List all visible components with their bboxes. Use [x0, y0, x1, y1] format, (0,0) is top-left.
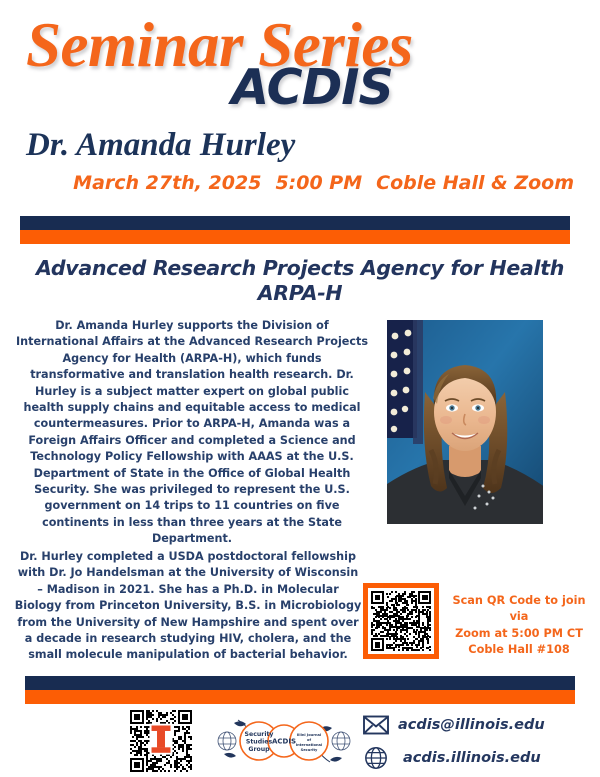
seminar-poster: Seminar Series ACDIS Dr. Amanda Hurley M… [0, 0, 600, 777]
event-location: Coble Hall & Zoom [376, 174, 574, 193]
envelope-icon [362, 711, 389, 738]
website-url[interactable]: acdis.illinois.edu [403, 750, 541, 766]
bio-paragraph-2: Dr. Hurley completed a USDA postdoctoral… [14, 549, 362, 664]
portrait-image [387, 320, 543, 524]
poster-footer: Security Studies Group ACDIS Illini Jour… [0, 706, 600, 777]
logo-label-ijis-line3: International [296, 743, 322, 747]
logo-label-ssg-line1: Security [245, 731, 274, 738]
logo-label-ijis-line1: Illini Journal [297, 733, 321, 737]
talk-title: Advanced Research Projects Agency for He… [22, 256, 578, 305]
event-details: March 27th, 20255:00 PMCoble Hall & Zoom [0, 174, 574, 193]
footer-orange-bar [25, 690, 575, 704]
zoom-qr-code-inner [368, 588, 434, 654]
acdis-wordmark: ACDIS [0, 63, 600, 112]
contact-email-row[interactable]: acdis@illinois.edu [362, 708, 598, 741]
globe-icon [362, 744, 389, 771]
divider-navy-bar [20, 216, 570, 230]
talk-title-line2: ARPA-H [22, 281, 578, 306]
zoom-qr-code[interactable] [363, 583, 439, 659]
contact-website-row[interactable]: acdis.illinois.edu [362, 741, 598, 774]
logo-label-ssg-line2: Studies [246, 739, 273, 746]
logo-label-ssg-line3: Group [248, 746, 270, 753]
qr-caption: Scan QR Code to join via Zoom at 5:00 PM… [446, 593, 592, 659]
logo-label-acdis: ACDIS [272, 738, 296, 746]
zoom-qr-code-image [371, 591, 431, 651]
event-time: 5:00 PM [275, 174, 362, 193]
event-date: March 27th, 2025 [73, 174, 261, 193]
illinois-qr-code-image [130, 710, 192, 772]
logo-label-ijis-line2: of [307, 738, 311, 742]
qr-caption-line3: Coble Hall #108 [446, 642, 592, 658]
poster-header: Seminar Series ACDIS Dr. Amanda Hurley M… [0, 0, 600, 212]
speaker-portrait [387, 320, 543, 524]
qr-caption-line2: Zoom at 5:00 PM CT [446, 626, 592, 642]
bio-paragraph-1: Dr. Amanda Hurley supports the Division … [14, 318, 370, 548]
footer-navy-bar [25, 676, 575, 690]
qr-caption-line1: Scan QR Code to join via [446, 593, 592, 626]
email-address[interactable]: acdis@illinois.edu [398, 717, 545, 733]
divider-bar-top [20, 216, 570, 244]
divider-bar-bottom [25, 676, 575, 704]
contact-info: acdis@illinois.edu acdis.illinois.edu [362, 708, 598, 774]
talk-title-line1: Advanced Research Projects Agency for He… [22, 256, 578, 281]
speaker-name: Dr. Amanda Hurley [26, 128, 295, 163]
acdis-partners-logo: Security Studies Group ACDIS Illini Jour… [214, 710, 354, 772]
divider-orange-bar [20, 230, 570, 244]
acdis-logo-svg: Security Studies Group ACDIS Illini Jour… [214, 710, 354, 772]
illinois-qr-code[interactable] [128, 708, 194, 774]
logo-label-ijis-line4: Security [301, 748, 318, 752]
